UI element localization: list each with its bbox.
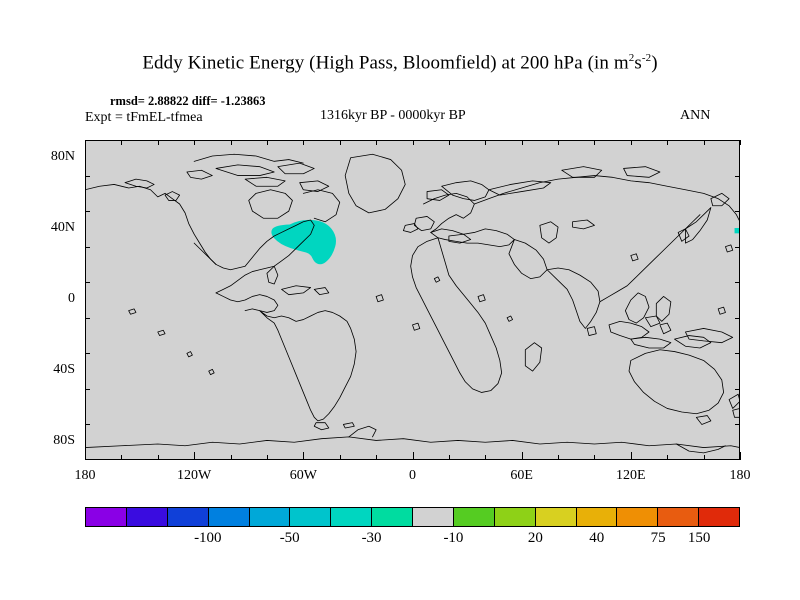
title-superscript-2: -2: [642, 52, 651, 64]
axis-tick: [231, 455, 232, 460]
axis-tick: [85, 389, 90, 390]
axis-tick: [594, 140, 595, 145]
colorbar[interactable]: [85, 507, 740, 527]
plot-canvas: Eddy Kinetic Energy (High Pass, Bloomfie…: [0, 0, 800, 600]
axis-tick: [449, 140, 450, 145]
axis-tick: [121, 455, 122, 460]
axis-tick: [85, 140, 86, 145]
axis-tick: [740, 452, 741, 460]
axis-tick: [740, 140, 741, 145]
colorbar-cell[interactable]: [290, 508, 331, 526]
colorbar-cell[interactable]: [658, 508, 699, 526]
axis-tick: [85, 452, 86, 460]
map-panel: [85, 140, 740, 460]
axis-tick: [413, 140, 414, 145]
colorbar-tick-label: -30: [337, 530, 407, 547]
axis-tick: [485, 140, 486, 145]
axis-tick: [413, 452, 414, 460]
axis-tick: [303, 452, 304, 460]
north-atlantic-anomaly: [271, 220, 336, 264]
colorbar-tick-label: -10: [418, 530, 488, 547]
colorbar-tick-label: 40: [562, 530, 632, 547]
axis-tick: [85, 424, 90, 425]
axis-tick: [303, 140, 304, 145]
colorbar-cell[interactable]: [250, 508, 291, 526]
colorbar-cell[interactable]: [577, 508, 618, 526]
y-axis-label: 80N: [25, 149, 75, 165]
anomaly-regions: [271, 220, 740, 264]
x-axis-label: 180: [50, 468, 120, 484]
colorbar-cell[interactable]: [86, 508, 127, 526]
colorbar-tick-label: 150: [664, 530, 734, 547]
axis-tick: [158, 455, 159, 460]
axis-tick: [85, 318, 90, 319]
axis-tick: [631, 452, 632, 460]
y-axis-label: 40S: [25, 362, 75, 378]
axis-tick: [735, 176, 740, 177]
x-axis-label: 180: [705, 468, 775, 484]
colorbar-tick-label: 20: [500, 530, 570, 547]
axis-tick: [85, 247, 90, 248]
axis-tick: [194, 452, 195, 460]
x-axis-label: 60W: [268, 468, 338, 484]
experiment-label: Expt = tFmEL-tfmea: [85, 110, 203, 126]
axis-tick: [376, 455, 377, 460]
axis-tick: [667, 140, 668, 145]
x-axis-label: 0: [378, 468, 448, 484]
page-title: Eddy Kinetic Energy (High Pass, Bloomfie…: [0, 52, 800, 74]
colorbar-cell[interactable]: [127, 508, 168, 526]
axis-tick: [376, 140, 377, 145]
y-axis-label: 80S: [25, 433, 75, 449]
axis-tick: [594, 455, 595, 460]
colorbar-cell[interactable]: [372, 508, 413, 526]
axis-tick: [735, 424, 740, 425]
axis-tick: [485, 455, 486, 460]
axis-tick: [558, 140, 559, 145]
axis-tick: [121, 140, 122, 145]
season-label: ANN: [680, 108, 710, 124]
axis-tick: [522, 140, 523, 145]
period-label: 1316kyr BP - 0000kyr BP: [320, 108, 466, 124]
colorbar-cell[interactable]: [495, 508, 536, 526]
axis-tick: [231, 140, 232, 145]
axis-tick: [735, 353, 740, 354]
axis-tick: [704, 140, 705, 145]
colorbar-cell[interactable]: [413, 508, 454, 526]
axis-tick: [85, 176, 90, 177]
axis-tick: [735, 247, 740, 248]
pacific-edge-anomaly: [735, 228, 740, 233]
colorbar-cell[interactable]: [168, 508, 209, 526]
axis-tick: [735, 318, 740, 319]
colorbar-cell[interactable]: [209, 508, 250, 526]
colorbar-cell[interactable]: [699, 508, 739, 526]
x-axis-label: 120W: [159, 468, 229, 484]
colorbar-cell[interactable]: [331, 508, 372, 526]
x-axis-label: 120E: [596, 468, 666, 484]
y-axis-label: 0: [25, 291, 75, 307]
axis-tick: [558, 455, 559, 460]
coastlines: [85, 154, 740, 453]
rmsd-diff-label: rmsd= 2.88822 diff= -1.23863: [110, 94, 266, 109]
axis-tick: [158, 140, 159, 145]
x-axis-label: 60E: [487, 468, 557, 484]
axis-tick: [735, 389, 740, 390]
axis-tick: [522, 452, 523, 460]
y-axis-label: 40N: [25, 220, 75, 236]
world-map: [85, 140, 740, 460]
axis-tick: [449, 455, 450, 460]
axis-tick: [85, 211, 90, 212]
colorbar-tick-label: -100: [173, 530, 243, 547]
axis-tick: [267, 140, 268, 145]
axis-tick: [267, 455, 268, 460]
axis-tick: [631, 140, 632, 145]
axis-tick: [667, 455, 668, 460]
colorbar-cell[interactable]: [454, 508, 495, 526]
axis-tick: [85, 282, 90, 283]
axis-tick: [735, 282, 740, 283]
colorbar-cell[interactable]: [536, 508, 577, 526]
axis-tick: [340, 140, 341, 145]
colorbar-cell[interactable]: [617, 508, 658, 526]
axis-tick: [340, 455, 341, 460]
colorbar-tick-label: -50: [255, 530, 325, 547]
axis-tick: [194, 140, 195, 145]
axis-tick: [85, 353, 90, 354]
axis-tick: [704, 455, 705, 460]
axis-tick: [735, 211, 740, 212]
